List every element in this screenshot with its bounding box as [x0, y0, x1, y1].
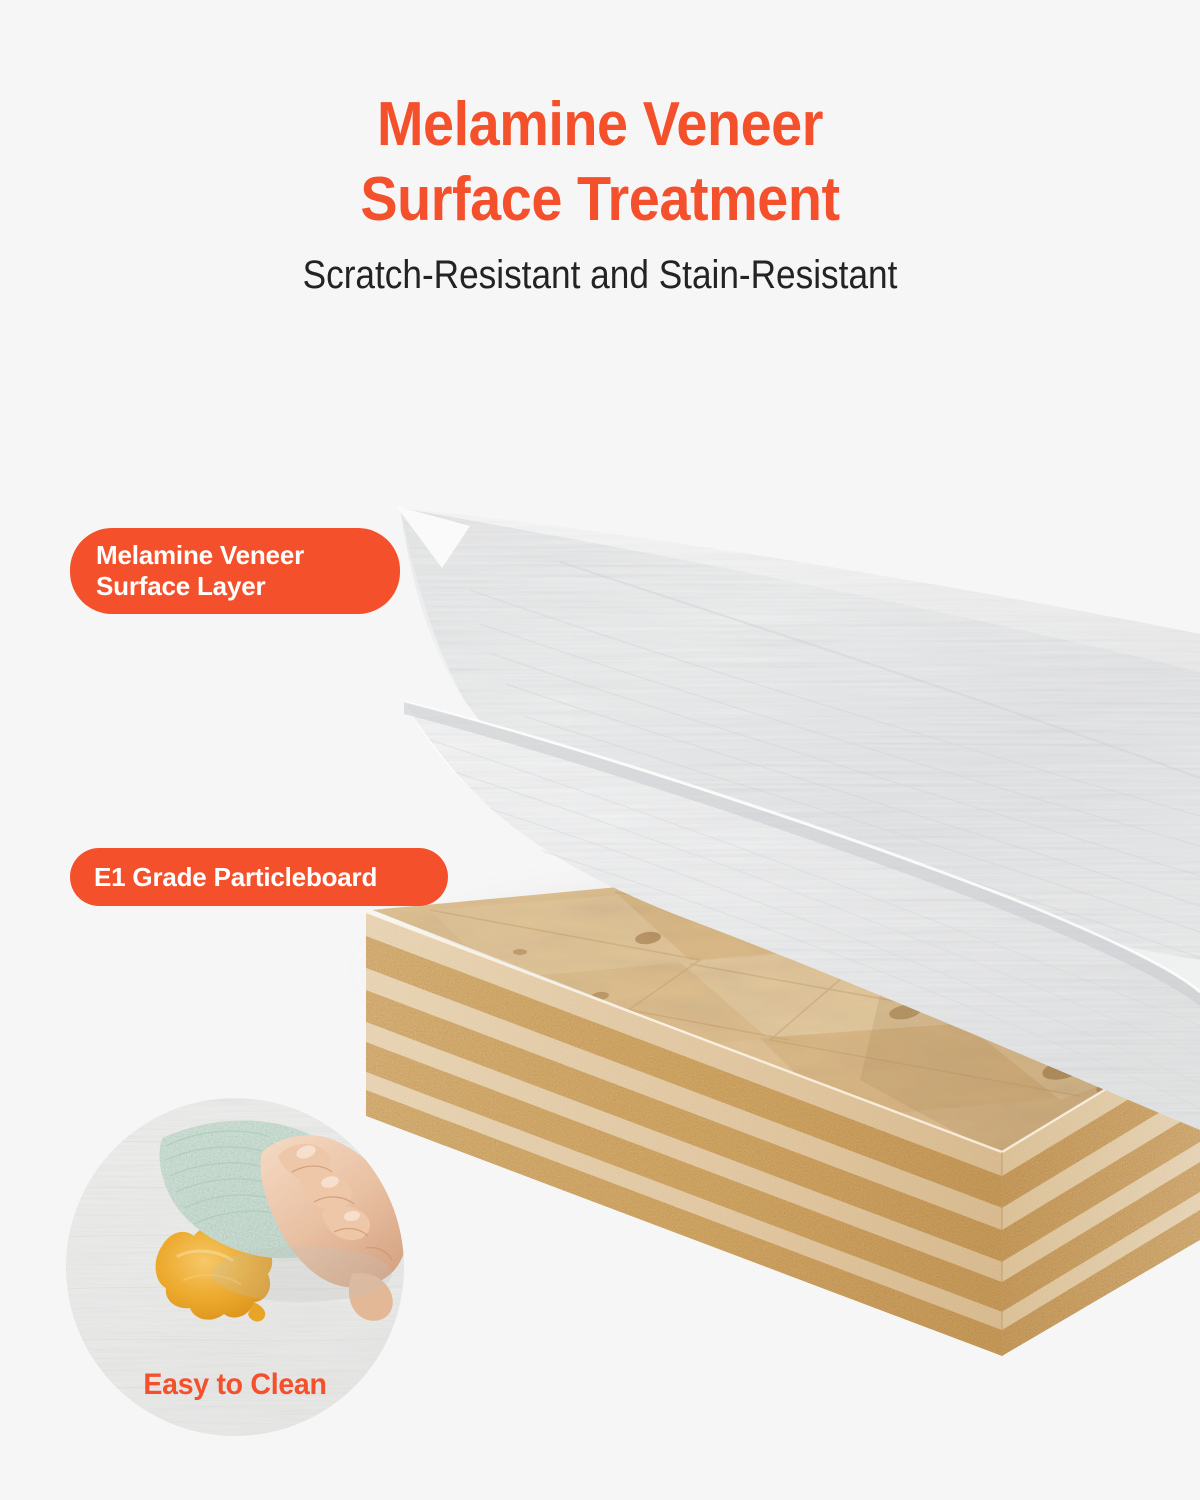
callout-veneer-line2: Surface Layer: [96, 571, 304, 602]
callout-badge-particleboard[interactable]: E1 Grade Particleboard: [70, 848, 448, 906]
infographic-stage: Melamine Veneer Surface Treatment Scratc…: [0, 0, 1200, 1500]
callout-badge-melamine-veneer[interactable]: Melamine Veneer Surface Layer: [70, 528, 400, 614]
page-title-line2: Surface Treatment: [60, 163, 1140, 237]
page-subtitle: Scratch-Resistant and Stain-Resistant: [72, 252, 1128, 298]
callout-veneer-line1: Melamine Veneer: [96, 540, 304, 571]
callout-particleboard-label: E1 Grade Particleboard: [94, 862, 377, 892]
page-title-line1: Melamine Veneer: [60, 88, 1140, 162]
cleaning-photo: [66, 1098, 404, 1436]
easy-to-clean-inset: [66, 1098, 404, 1436]
